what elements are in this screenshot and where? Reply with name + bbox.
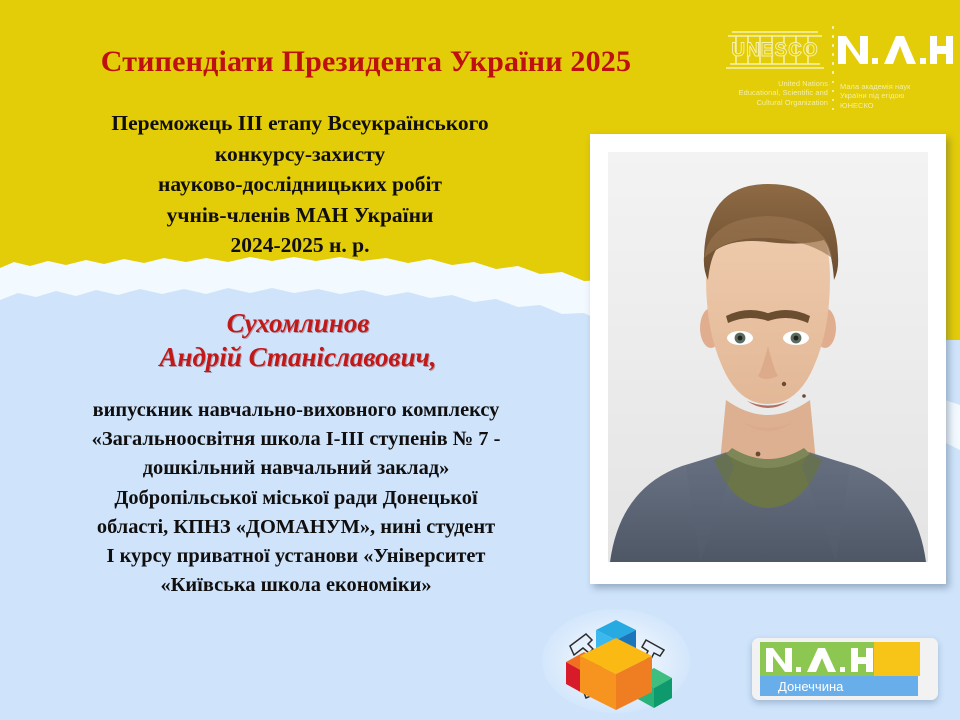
- man-sub-text: Мала академія наук України під егідою ЮН…: [840, 82, 956, 110]
- subtitle-line: конкурсу-захисту: [10, 139, 590, 170]
- bio-line: Добропільської міської ради Донецької: [0, 484, 592, 513]
- laureate-biography: випускник навчально-виховного комплексу …: [0, 396, 592, 600]
- unesco-sub-line: United Nations: [722, 79, 828, 88]
- badge-region-label: Донеччина: [778, 679, 844, 694]
- bio-line: І курсу приватної установи «Університет: [0, 542, 592, 571]
- man-logo: Мала академія наук України під егідою ЮН…: [838, 24, 956, 110]
- man-wordmark-icon: [836, 24, 956, 78]
- subtitle-line: науково-дослідницьких робіт: [10, 169, 590, 200]
- subtitle-line: Переможець ІІІ етапу Всеукраїнського: [10, 108, 590, 139]
- laureate-name: Сухомлинов Андрій Станіславович,: [8, 306, 588, 374]
- subtitle-line: учнів-членів МАН України: [10, 200, 590, 231]
- bio-line: дошкільний навчальний заклад»: [0, 454, 592, 483]
- man-sub-line: Мала академія наук: [840, 82, 956, 91]
- laureate-given-name: Андрій Станіславович,: [8, 340, 588, 374]
- man-sub-line: України під егідою: [840, 91, 956, 100]
- poster-canvas: UNESCO United Nations Educational, Scien…: [0, 0, 960, 720]
- svg-text:UNESCO: UNESCO: [731, 40, 818, 61]
- man-cube-emblem-icon: [536, 606, 696, 716]
- bio-line: області, КПНЗ «ДОМАНУМ», нині студент: [0, 513, 592, 542]
- portrait-photo-frame: [590, 134, 946, 584]
- unesco-sub-line: Cultural Organization: [722, 98, 828, 107]
- unesco-logo: UNESCO United Nations Educational, Scien…: [722, 24, 828, 107]
- page-title: Стипендіати Президента України 2025: [16, 45, 716, 79]
- bio-line: «Київська школа економіки»: [0, 571, 592, 600]
- bio-line: випускник навчально-виховного комплексу: [0, 396, 592, 425]
- portrait-illustration: [608, 152, 928, 562]
- poster-subtitle: Переможець ІІІ етапу Всеукраїнського кон…: [10, 108, 590, 261]
- subtitle-line: 2024-2025 н. р.: [10, 230, 590, 261]
- man-sub-line: ЮНЕСКО: [840, 101, 956, 110]
- unesco-sub-text: United Nations Educational, Scientific a…: [722, 79, 828, 107]
- man-donechchyna-badge: Донеччина: [752, 638, 938, 700]
- laureate-surname: Сухомлинов: [8, 306, 588, 340]
- portrait-photo: [608, 152, 928, 562]
- bio-line: «Загальноосвітня школа І-ІІІ ступенів № …: [0, 425, 592, 454]
- unesco-sub-line: Educational, Scientific and: [722, 88, 828, 97]
- unesco-temple-icon: UNESCO: [722, 24, 828, 76]
- header-logo-lockup: UNESCO United Nations Educational, Scien…: [722, 24, 956, 126]
